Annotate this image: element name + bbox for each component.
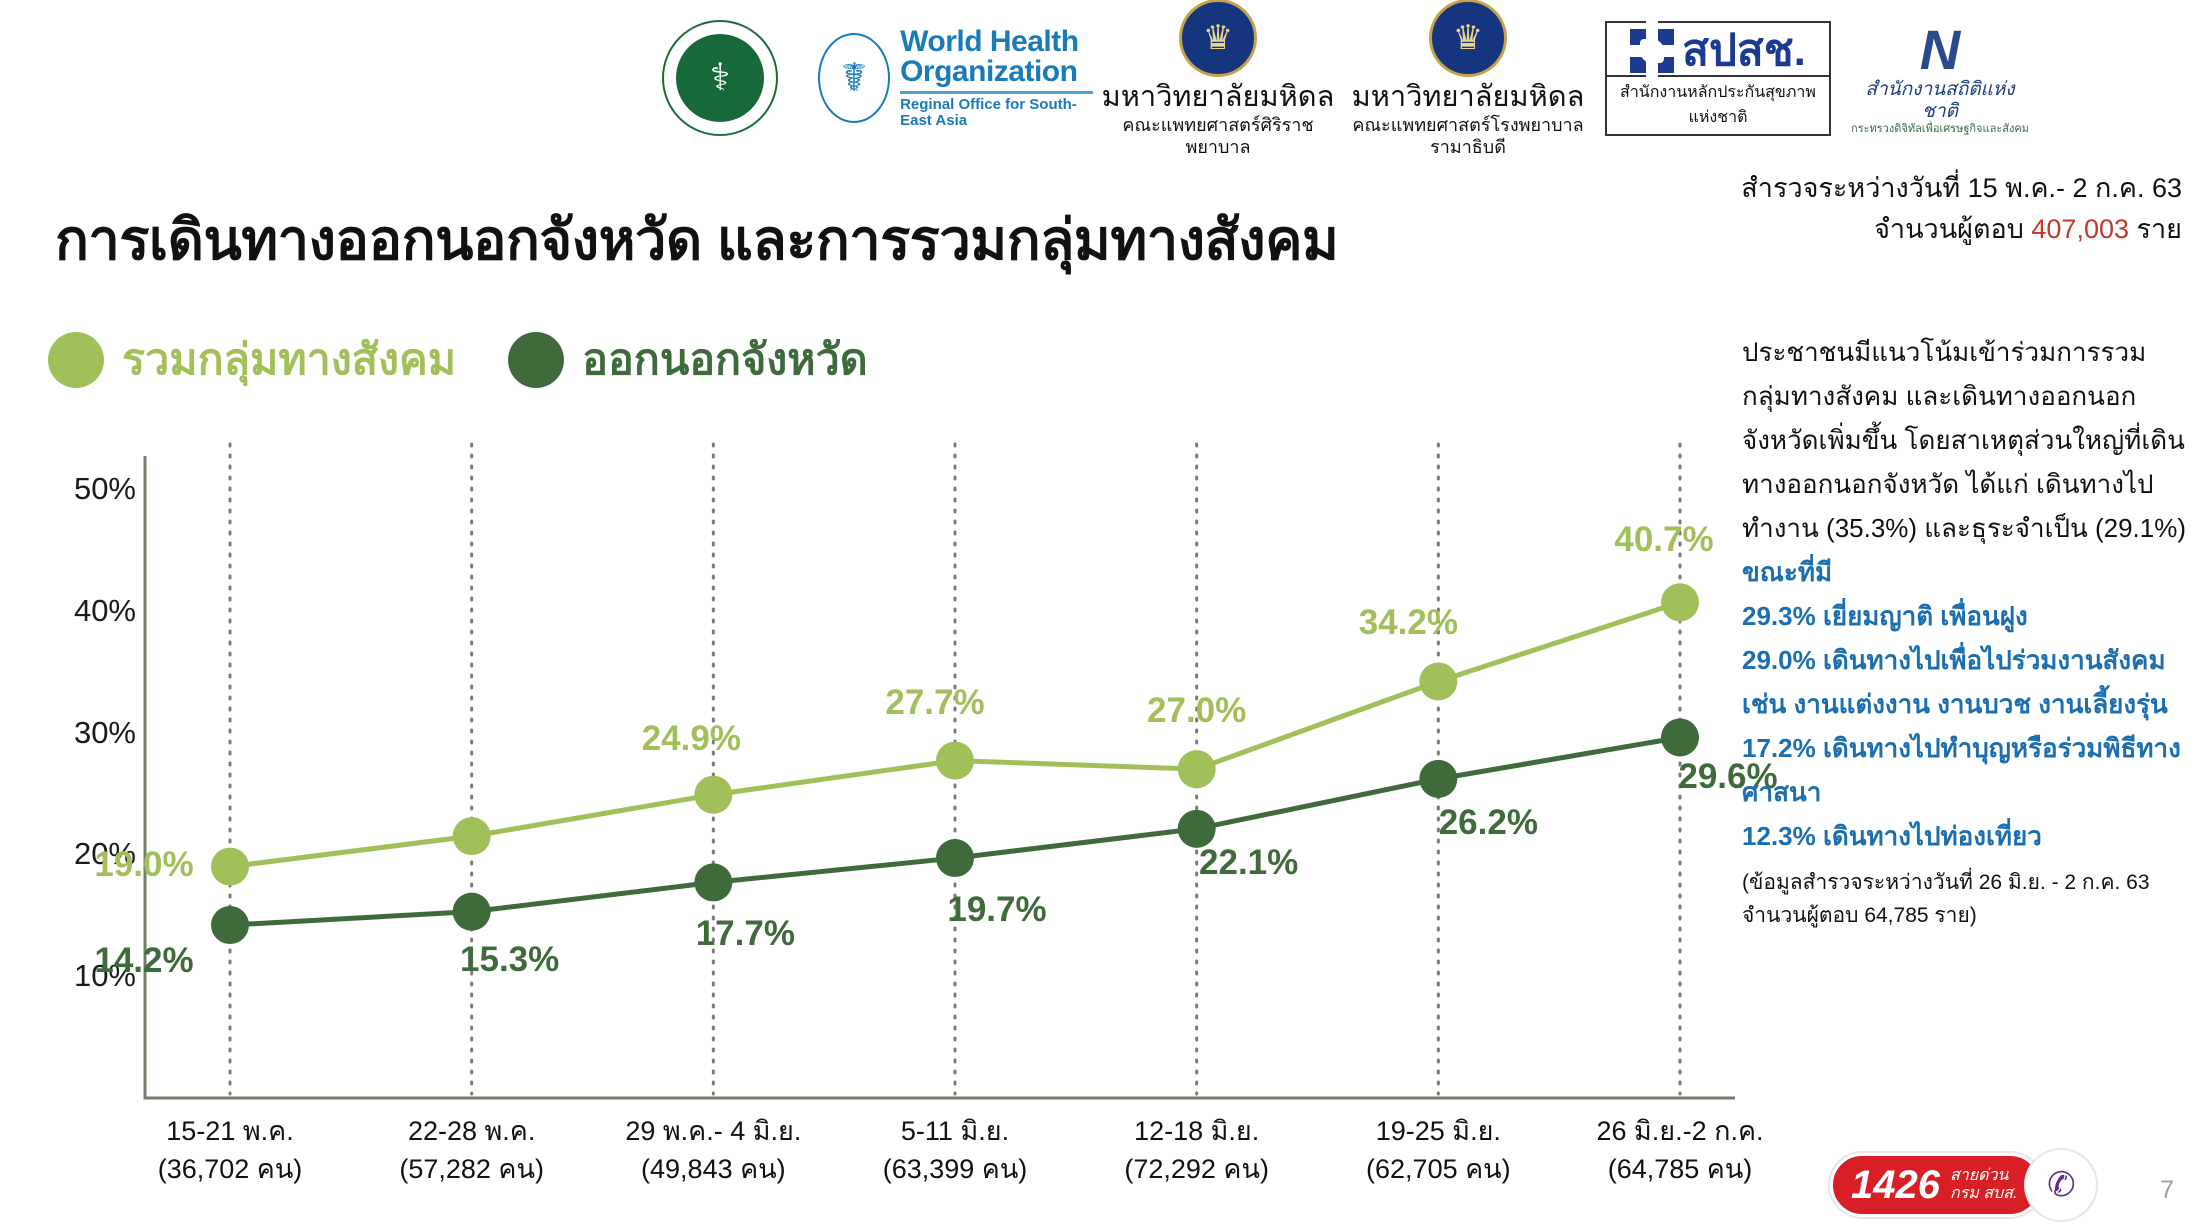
commentary-panel: ประชาชนมีแนวโน้มเข้าร่วมการรวมกลุ่มทางสั… (1742, 330, 2194, 932)
page-number: 7 (2160, 1176, 2174, 1205)
nso-mark-icon: N (1850, 21, 2030, 79)
x-axis-tick-label: 5-11 มิ.ย.(63,399 คน) (825, 1112, 1085, 1188)
data-point-label: 19.0% (94, 845, 193, 885)
respondents-prefix: จำนวนผู้ตอบ (1874, 214, 2031, 244)
x-axis-tick-count: (72,292 คน) (1067, 1150, 1327, 1188)
x-axis-tick-label: 26 มิ.ย.-2 ก.ค.(64,785 คน) (1550, 1112, 1810, 1188)
survey-period: สำรวจระหว่างวันที่ 15 พ.ค.- 2 ก.ค. 63 (1741, 168, 2182, 209)
data-point[interactable] (694, 863, 732, 901)
data-point-label: 27.0% (1147, 691, 1246, 731)
y-axis-tick-label: 30% (26, 715, 136, 751)
commentary-bullet-1: 29.3% เยี่ยมญาติ เพื่อนฝูง (1742, 594, 2194, 638)
hotline-number: 1426 (1851, 1165, 1940, 1205)
data-point[interactable] (1419, 760, 1457, 798)
data-point[interactable] (1661, 583, 1699, 621)
nso-line2: กระทรวงดิจิทัลเพื่อเศรษฐกิจและสังคม (1850, 123, 2030, 136)
commentary-bullet-3: 17.2% เดินทางไปทำบุญหรือร่วมพิธีทางศาสนา (1742, 726, 2194, 814)
x-axis-tick-period: 12-18 มิ.ย. (1067, 1112, 1327, 1150)
x-axis-tick-label: 22-28 พ.ค.(57,282 คน) (342, 1112, 602, 1188)
data-point[interactable] (211, 906, 249, 944)
slide-root: ⚕ ☤ World Health Organization Reginal Of… (0, 0, 2200, 1230)
hotline-badge[interactable]: 1426 สายด่วน กรม สบส. ✆ (1830, 1150, 2096, 1220)
data-point[interactable] (453, 893, 491, 931)
x-axis-tick-period: 5-11 มิ.ย. (825, 1112, 1085, 1150)
x-axis-tick-label: 15-21 พ.ค.(36,702 คน) (100, 1112, 360, 1188)
data-point-label: 14.2% (94, 941, 193, 981)
x-axis-tick-count: (57,282 คน) (342, 1150, 602, 1188)
commentary-bullet-4: 12.3% เดินทางไปท่องเที่ยว (1742, 814, 2194, 858)
line-chart: 10%20%30%40%50% 15-21 พ.ค.(36,702 คน)22-… (0, 0, 1780, 1230)
x-axis-tick-period: 29 พ.ค.- 4 มิ.ย. (583, 1112, 843, 1150)
chart-canvas (0, 0, 1780, 1230)
data-point-label: 27.7% (885, 683, 984, 723)
data-point-label: 19.7% (947, 890, 1046, 930)
x-axis-tick-count: (36,702 คน) (100, 1150, 360, 1188)
data-point[interactable] (211, 848, 249, 886)
commentary-bullet-2: 29.0% เดินทางไปเพื่อไปร่วมงานสังคม เช่น … (1742, 638, 2194, 726)
commentary-highlight-lead: ขณะที่มี (1742, 557, 1832, 587)
data-point-label: 22.1% (1199, 843, 1298, 883)
data-point-label: 40.7% (1614, 520, 1713, 560)
data-point[interactable] (936, 742, 974, 780)
data-point-label: 15.3% (460, 940, 559, 980)
respondents-line: จำนวนผู้ตอบ 407,003 ราย (1741, 209, 2182, 250)
commentary-text: ประชาชนมีแนวโน้มเข้าร่วมการรวมกลุ่มทางสั… (1742, 337, 2186, 543)
hotline-line2: กรม สบส. (1950, 1185, 2017, 1202)
x-axis-tick-period: 19-25 มิ.ย. (1308, 1112, 1568, 1150)
hotline-text: สายด่วน กรม สบส. (1950, 1167, 2017, 1203)
commentary-footnote: (ข้อมูลสำรวจระหว่างวันที่ 26 มิ.ย. - 2 ก… (1742, 866, 2194, 932)
hotline-line1: สายด่วน (1950, 1167, 2008, 1184)
x-axis-tick-label: 29 พ.ค.- 4 มิ.ย.(49,843 คน) (583, 1112, 843, 1188)
data-point[interactable] (936, 839, 974, 877)
x-axis-tick-label: 12-18 มิ.ย.(72,292 คน) (1067, 1112, 1327, 1188)
nso-line1: สำนักงานสถิติแห่งชาติ (1850, 79, 2030, 123)
phone-icon: ✆ (2026, 1150, 2096, 1220)
data-point[interactable] (694, 776, 732, 814)
data-point[interactable] (1419, 662, 1457, 700)
x-axis-tick-period: 15-21 พ.ค. (100, 1112, 360, 1150)
x-axis-tick-period: 22-28 พ.ค. (342, 1112, 602, 1150)
data-point-label: 24.9% (642, 719, 741, 759)
x-axis-tick-count: (62,705 คน) (1308, 1150, 1568, 1188)
commentary-paragraph: ประชาชนมีแนวโน้มเข้าร่วมการรวมกลุ่มทางสั… (1742, 330, 2194, 594)
data-point[interactable] (1661, 718, 1699, 756)
respondents-count: 407,003 (2031, 214, 2129, 244)
x-axis-tick-count: (63,399 คน) (825, 1150, 1085, 1188)
respondents-suffix: ราย (2129, 214, 2182, 244)
hotline-pill: 1426 สายด่วน กรม สบส. (1830, 1153, 2042, 1217)
logo-national-statistical-office: N สำนักงานสถิติแห่งชาติ กระทรวงดิจิทัลเพ… (1850, 21, 2030, 136)
data-point[interactable] (453, 817, 491, 855)
y-axis-tick-label: 40% (26, 593, 136, 629)
x-axis-tick-count: (64,785 คน) (1550, 1150, 1810, 1188)
data-point-label: 26.2% (1439, 803, 1538, 843)
survey-note: สำรวจระหว่างวันที่ 15 พ.ค.- 2 ก.ค. 63 จำ… (1741, 168, 2182, 250)
chart-axes (145, 456, 1735, 1098)
x-axis-tick-period: 26 มิ.ย.-2 ก.ค. (1550, 1112, 1810, 1150)
x-axis-tick-label: 19-25 มิ.ย.(62,705 คน) (1308, 1112, 1568, 1188)
y-axis-tick-label: 50% (26, 471, 136, 507)
x-axis-tick-count: (49,843 คน) (583, 1150, 843, 1188)
data-point-label: 17.7% (696, 914, 795, 954)
data-point-label: 34.2% (1359, 603, 1458, 643)
data-point[interactable] (1178, 750, 1216, 788)
